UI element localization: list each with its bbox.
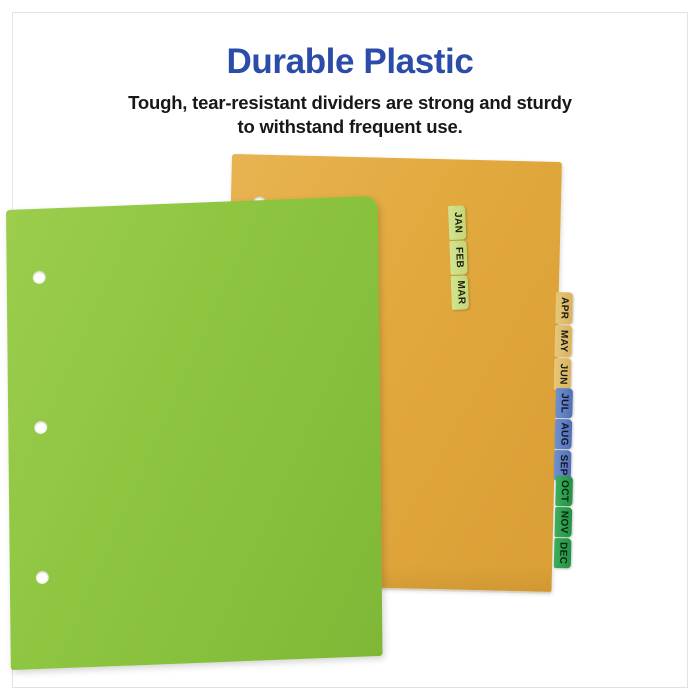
hole-punch [34,421,47,435]
tab-may: MAY [554,325,572,357]
page-subtitle: Tough, tear-resistant dividers are stron… [0,91,700,140]
tab-mar: MAR [451,275,469,310]
subtitle-line-1: Tough, tear-resistant dividers are stron… [0,91,700,116]
tab-label: MAY [558,330,569,353]
page-title: Durable Plastic [0,44,700,81]
tab-label: JAN [452,212,463,234]
tab-jul: JUL [555,388,573,418]
tab-label: MAR [454,280,465,304]
tab-apr: APR [555,292,573,324]
tab-jan: JAN [448,205,466,240]
text-block: Durable Plastic Tough, tear-resistant di… [0,44,700,140]
divider-sheet-green [6,196,383,670]
tab-nov: NOV [555,507,573,537]
tab-label: DEC [557,542,568,565]
tab-aug: AUG [555,419,573,449]
tab-label: AUG [558,422,569,446]
tab-label: FEB [453,247,464,269]
tab-label: JUL [559,393,569,413]
subtitle-line-2: to withstand frequent use. [0,115,700,140]
hole-punch [33,271,46,285]
product-photo: APR MAY JUN JUL AUG SEP OCT NOV DEC JAN … [0,150,700,690]
tab-label: JUN [557,363,568,384]
tab-label: APR [559,297,570,320]
product-image-card: Durable Plastic Tough, tear-resistant di… [0,0,700,700]
hole-punch [36,571,49,585]
tab-oct: OCT [555,476,573,506]
tab-label: NOV [558,511,569,534]
tab-jun: JUN [554,358,572,390]
tab-feb: FEB [449,240,467,275]
tab-label: OCT [559,480,570,503]
tab-label: SEP [557,454,568,475]
tab-dec: DEC [554,538,572,568]
